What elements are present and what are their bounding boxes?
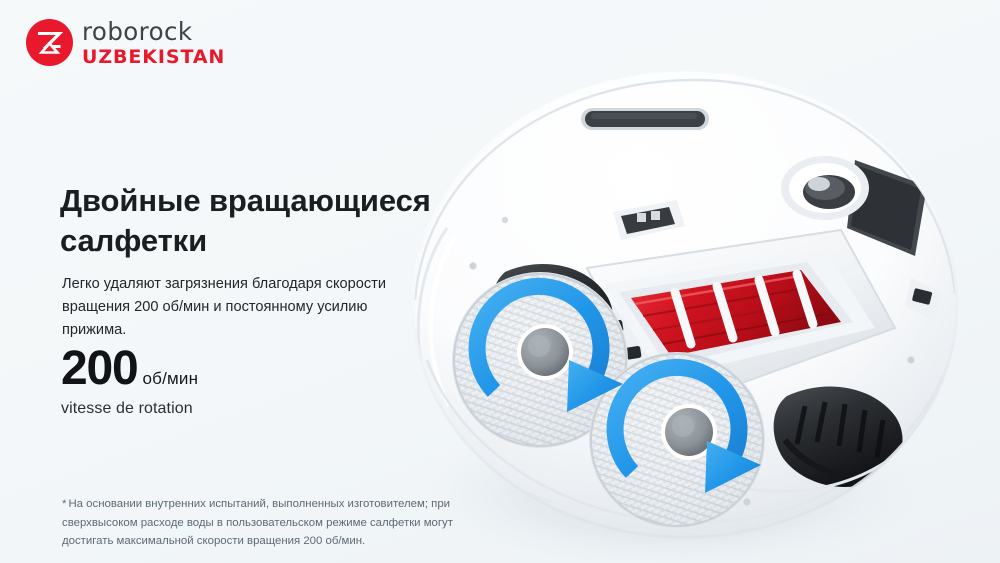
description-text: Легко удаляют загрязнения благодаря скор… [62, 273, 412, 342]
page-title: Двойные вращающиеся салфетки [60, 181, 490, 262]
footnote: *На основании внутренних испытаний, выпо… [62, 495, 502, 550]
brand-logo: roborock UZBEKISTAN [26, 19, 225, 67]
brand-region: UZBEKISTAN [82, 48, 225, 67]
stat-unit: об/мин [143, 369, 199, 389]
footnote-text: На основании внутренних испытаний, выпол… [62, 498, 453, 547]
stat-block: 200 об/мин vitesse de rotation [61, 345, 198, 418]
footnote-marker: * [62, 498, 66, 510]
stat-caption: vitesse de rotation [61, 400, 198, 418]
brand-wordmark: roborock UZBEKISTAN [82, 19, 225, 67]
sensor-window [581, 108, 709, 130]
promo-banner: roborock UZBEKISTAN [0, 0, 1000, 563]
brand-name: roborock [82, 20, 225, 45]
roborock-z-mark-icon [26, 19, 73, 66]
caster-wheel [781, 156, 869, 220]
stat-value: 200 [61, 345, 138, 393]
stat-row: 200 об/мин [61, 345, 198, 393]
product-image [355, 60, 995, 560]
